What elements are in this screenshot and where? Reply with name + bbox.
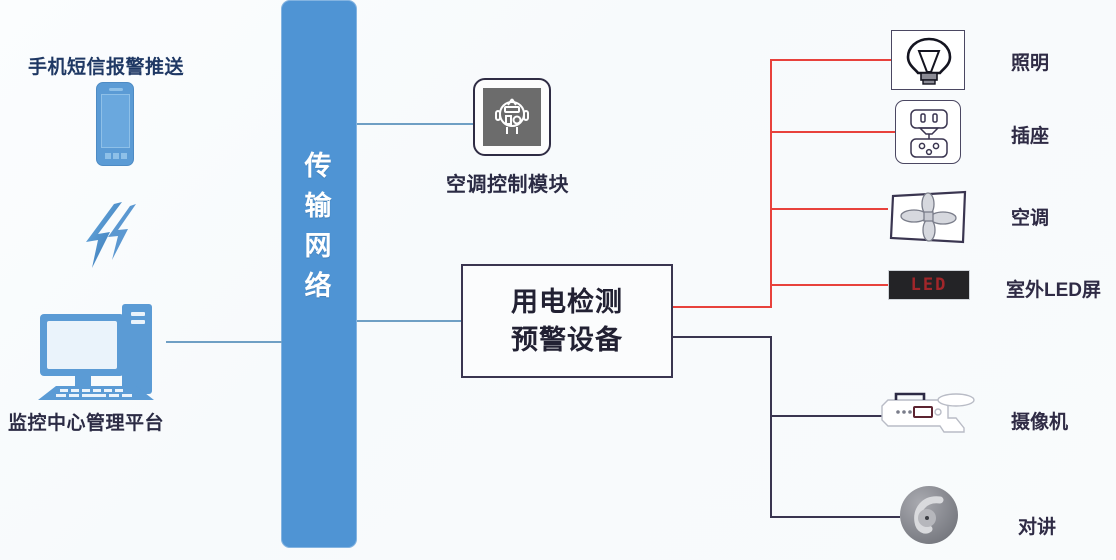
phone-button [105,153,111,159]
power-outlet-icon [895,100,961,164]
device-label-lighting: 照明 [1011,48,1049,75]
wire-detection-to-red-trunk [673,306,772,308]
device-label-led-screen: 室外LED屏 [1006,275,1101,302]
device-label-socket: 插座 [1011,121,1049,148]
power-detection-device-box: 用电检测 预警设备 [461,264,673,378]
wire-to-socket [770,131,897,133]
net-char: 络 [281,266,357,306]
robot-iq-icon [489,94,535,140]
ac-control-module-label: 空调控制模块 [446,168,569,197]
wire-to-camera [770,415,882,417]
phone-button [121,153,127,159]
phone-button [113,153,119,159]
smartphone-icon [96,82,134,166]
detection-line-2: 预警设备 [511,321,623,359]
transmission-network-bar: 传 输 网 络 [281,0,357,548]
monitoring-platform-label: 监控中心管理平台 [8,408,164,435]
wire-to-air-conditioner [770,208,888,210]
device-label-camera: 摄像机 [1011,407,1068,434]
fan-icon [885,190,971,248]
transmission-network-label: 传 输 网 络 [281,146,357,306]
desktop-computer-icon [36,300,166,408]
ac-module-inner-panel [483,88,541,146]
navy-trunk-vertical [770,336,772,518]
red-trunk-vertical [770,60,772,308]
lightbulb-icon [891,30,965,90]
wire-to-intercom [770,516,900,518]
phone-screen [101,94,130,148]
net-char: 网 [281,226,357,266]
lightning-bolt-icon [78,200,150,270]
device-label-intercom: 对讲 [1018,512,1056,539]
wire-to-led-screen [770,284,890,286]
led-screen-text: LED [911,275,948,295]
device-label-air-conditioner: 空调 [1011,203,1049,230]
wire-to-lighting [770,59,893,61]
wire-network-to-ac-module [357,123,474,125]
net-char: 传 [281,146,357,186]
wire-network-to-detection [357,320,462,322]
wire-detection-to-navy-trunk [673,336,772,338]
detection-line-1: 用电检测 [511,283,623,321]
sms-alert-label: 手机短信报警推送 [28,52,184,79]
wire-platform-to-network [166,341,282,343]
ac-control-module-icon [473,78,551,156]
net-char: 输 [281,186,357,226]
diagram-canvas: 手机短信报警推送 [0,0,1116,560]
intercom-icon [898,484,960,546]
led-screen-icon: LED [888,270,970,300]
phone-speaker [109,88,123,91]
video-camera-icon [878,388,982,438]
